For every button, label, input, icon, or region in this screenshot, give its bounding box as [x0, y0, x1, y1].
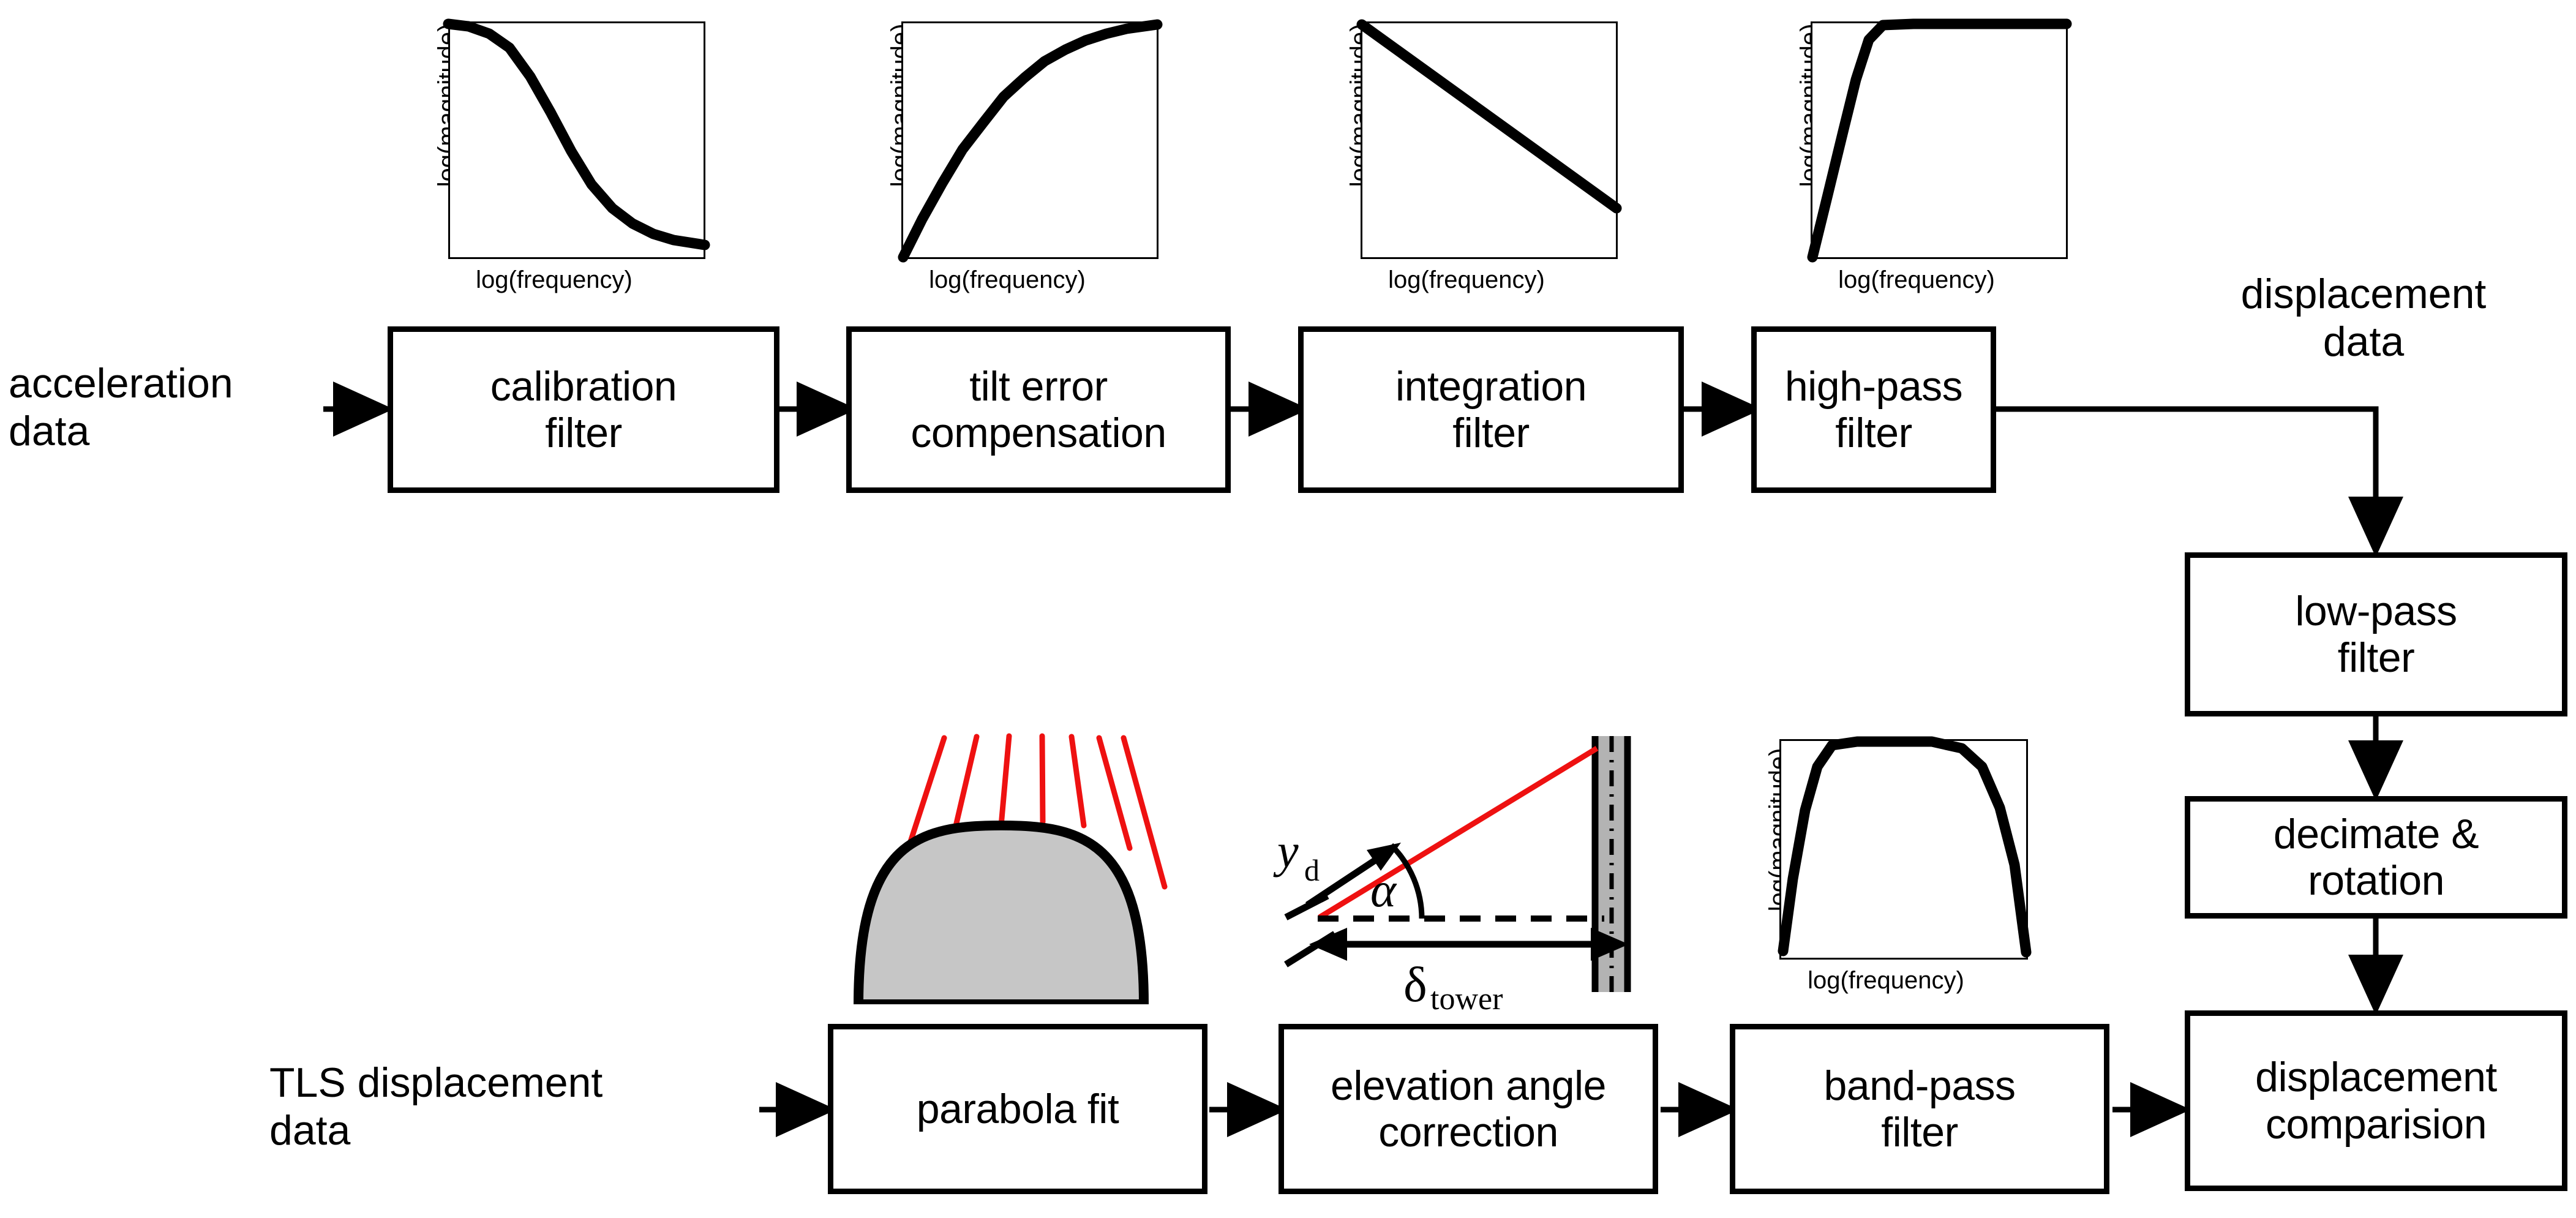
box-decimate-rotation-label: decimate & rotation [2274, 811, 2479, 904]
box-high-pass-filter-label: high-pass filter [1785, 363, 1962, 456]
box-calibration-filter[interactable]: calibration filter [388, 326, 779, 493]
box-tilt-error-compensation-label: tilt error compensation [911, 363, 1166, 456]
box-elevation-angle-correction[interactable]: elevation angle correction [1279, 1024, 1658, 1194]
arrow-highpass-to-lowpass [1996, 409, 2376, 546]
flowchart-canvas: log(magnitude) log(frequency) log(magnit… [0, 0, 2576, 1218]
box-integration-filter-label: integration filter [1395, 363, 1587, 456]
box-tilt-error-compensation[interactable]: tilt error compensation [846, 326, 1231, 493]
box-elevation-angle-correction-label: elevation angle correction [1331, 1062, 1606, 1156]
box-parabola-fit[interactable]: parabola fit [828, 1024, 1207, 1194]
box-low-pass-filter[interactable]: low-pass filter [2185, 552, 2567, 716]
box-calibration-filter-label: calibration filter [490, 363, 677, 456]
input-label-acceleration-data: acceleration data [9, 360, 321, 455]
box-high-pass-filter[interactable]: high-pass filter [1751, 326, 1996, 493]
box-displacement-comparision-label: displacement comparision [2255, 1054, 2497, 1147]
intermediate-label-displacement-data: displacement data [2161, 271, 2566, 366]
box-low-pass-filter-label: low-pass filter [2295, 588, 2457, 681]
input-label-tls-displacement-data: TLS displacement data [269, 1059, 753, 1154]
box-integration-filter[interactable]: integration filter [1298, 326, 1684, 493]
box-band-pass-filter-label: band-pass filter [1823, 1062, 2015, 1156]
box-band-pass-filter[interactable]: band-pass filter [1730, 1024, 2109, 1194]
box-displacement-comparision[interactable]: displacement comparision [2185, 1010, 2567, 1191]
box-decimate-rotation[interactable]: decimate & rotation [2185, 796, 2567, 919]
box-parabola-fit-label: parabola fit [917, 1086, 1119, 1132]
